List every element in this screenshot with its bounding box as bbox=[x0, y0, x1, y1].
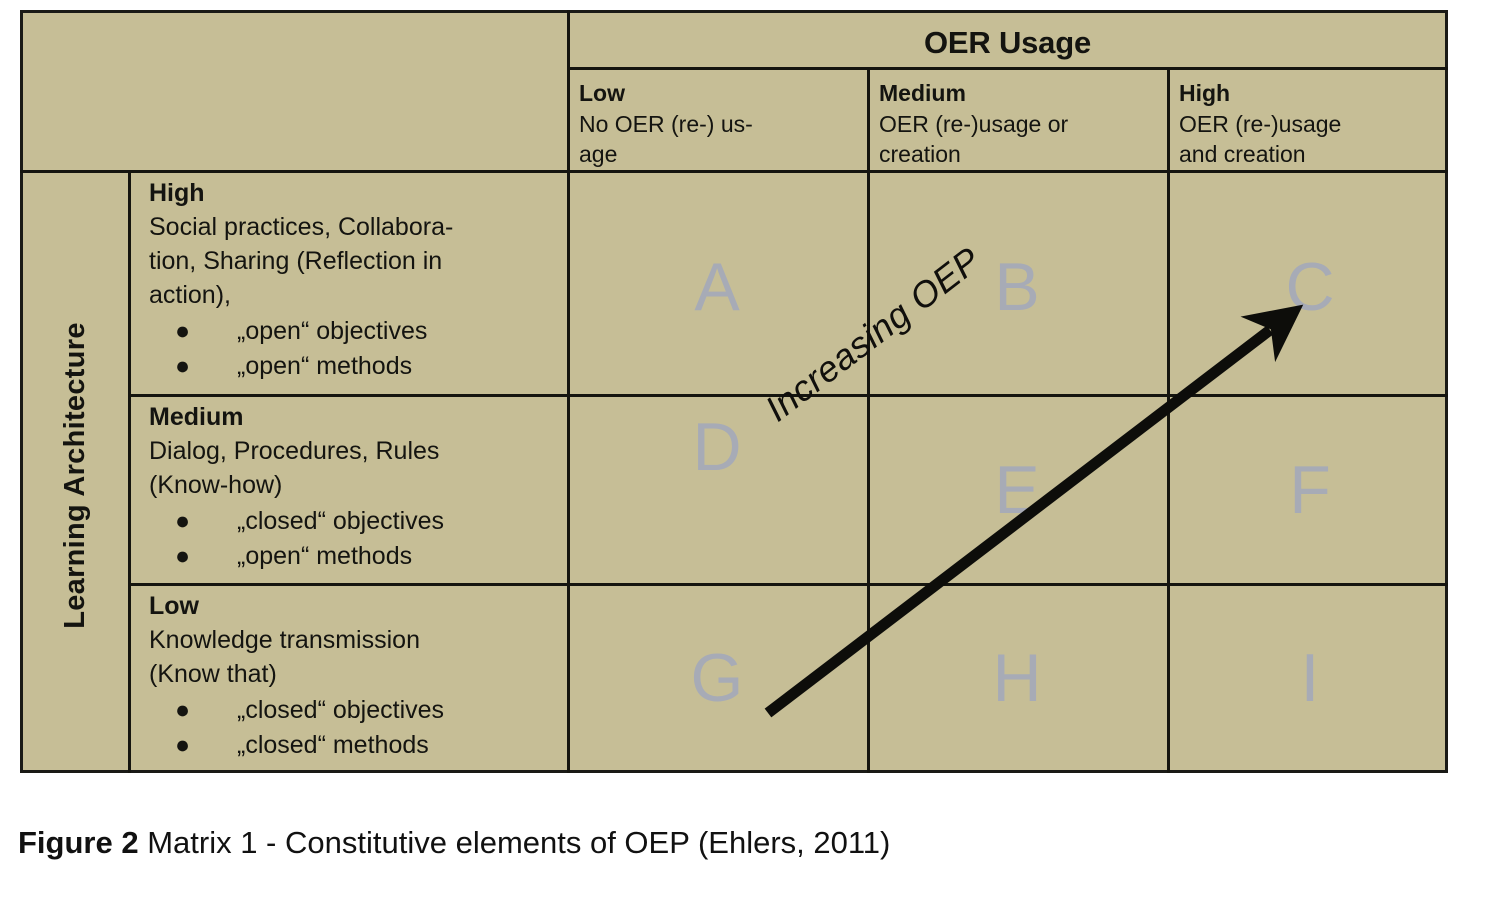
row-header-high: High Social practices, Collabora- tion, … bbox=[131, 173, 568, 394]
quadrant-label: E bbox=[977, 456, 1057, 524]
row-header-low-description: Knowledge transmission (Know that) bbox=[149, 624, 562, 692]
column-header-low-level: Low bbox=[579, 78, 858, 109]
column-header-medium-level: Medium bbox=[879, 78, 1158, 109]
list-item: ● „closed“ methods bbox=[149, 728, 562, 764]
list-item-label: „open“ objectives bbox=[237, 317, 427, 345]
quadrant-label: D bbox=[677, 413, 757, 481]
column-header-low-description: No OER (re-) us- age bbox=[579, 109, 858, 170]
row-header-medium-bullets: ● „closed“ objectives ● „open“ methods bbox=[149, 504, 562, 575]
row-header-low: Low Knowledge transmission (Know that) ●… bbox=[131, 586, 568, 773]
grid-line-col-medium-high bbox=[1167, 67, 1170, 773]
increasing-oep-label: Increasing OEP bbox=[757, 239, 988, 430]
row-header-low-level: Low bbox=[149, 590, 562, 624]
row-header-low-bullets: ● „closed“ objectives ● „closed“ methods bbox=[149, 693, 562, 764]
list-item: ● „closed“ objectives bbox=[149, 693, 562, 729]
bullet-icon: ● bbox=[175, 349, 190, 385]
quadrant-label: G bbox=[677, 644, 757, 712]
row-header-high-bullets: ● „open“ objectives ● „open“ methods bbox=[149, 314, 562, 385]
list-item: ● „open“ methods bbox=[149, 349, 562, 385]
row-axis-title-label: Learning Architecture bbox=[59, 322, 92, 629]
figure-container: OER Usage Low No OER (re-) us- age Mediu… bbox=[0, 0, 1488, 904]
figure-caption-number: Figure 2 bbox=[18, 825, 139, 860]
row-header-medium-level: Medium bbox=[149, 401, 562, 435]
bullet-icon: ● bbox=[175, 728, 190, 764]
bullet-icon: ● bbox=[175, 504, 190, 540]
quadrant-label: F bbox=[1270, 456, 1350, 524]
list-item-label: „closed“ objectives bbox=[237, 696, 444, 724]
list-item-label: „open“ methods bbox=[237, 352, 412, 380]
bullet-icon: ● bbox=[175, 539, 190, 575]
figure-caption-text: Matrix 1 - Constitutive elements of OEP … bbox=[139, 825, 891, 860]
figure-caption: Figure 2 Matrix 1 - Constitutive element… bbox=[18, 825, 890, 861]
column-header-high-level: High bbox=[1179, 78, 1439, 109]
list-item-label: „open“ methods bbox=[237, 542, 412, 570]
list-item-label: „closed“ methods bbox=[237, 731, 429, 759]
list-item: ● „closed“ objectives bbox=[149, 504, 562, 540]
column-axis-title: OER Usage bbox=[570, 16, 1445, 70]
row-axis-title: Learning Architecture bbox=[23, 177, 128, 773]
list-item-label: „closed“ objectives bbox=[237, 507, 444, 535]
quadrant-label: I bbox=[1270, 644, 1350, 712]
bullet-icon: ● bbox=[175, 693, 190, 729]
row-header-high-level: High bbox=[149, 177, 562, 211]
column-header-low: Low No OER (re-) us- age bbox=[570, 73, 867, 170]
oep-matrix-table: OER Usage Low No OER (re-) us- age Mediu… bbox=[20, 10, 1448, 773]
column-header-medium-description: OER (re-)usage or creation bbox=[879, 109, 1158, 170]
grid-line-col-low-medium bbox=[867, 67, 870, 773]
row-header-medium: Medium Dialog, Procedures, Rules (Know-h… bbox=[131, 397, 568, 583]
row-header-high-description: Social practices, Collabora- tion, Shari… bbox=[149, 211, 562, 313]
column-header-high-description: OER (re-)usage and creation bbox=[1179, 109, 1439, 170]
bullet-icon: ● bbox=[175, 314, 190, 350]
quadrant-label: H bbox=[977, 644, 1057, 712]
quadrant-label: C bbox=[1270, 253, 1350, 321]
list-item: ● „open“ methods bbox=[149, 539, 562, 575]
column-header-medium: Medium OER (re-)usage or creation bbox=[870, 73, 1167, 170]
column-header-high: High OER (re-)usage and creation bbox=[1170, 73, 1448, 170]
list-item: ● „open“ objectives bbox=[149, 314, 562, 350]
quadrant-label: A bbox=[677, 253, 757, 321]
quadrant-label: B bbox=[977, 253, 1057, 321]
row-header-medium-description: Dialog, Procedures, Rules (Know-how) bbox=[149, 435, 562, 503]
